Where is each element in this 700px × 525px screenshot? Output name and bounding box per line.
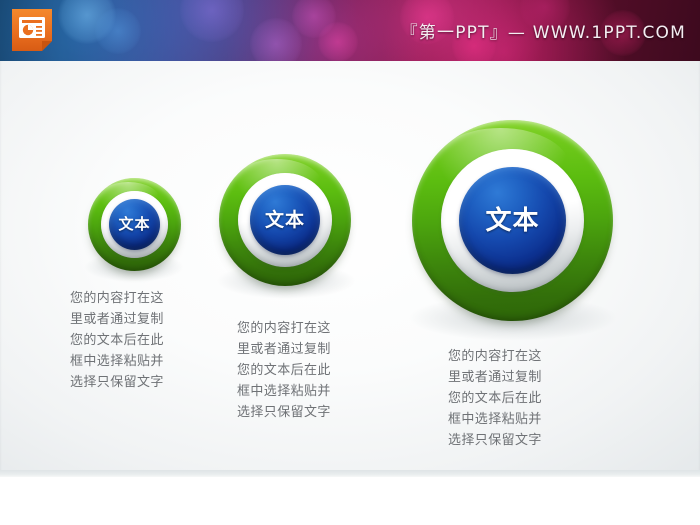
bokeh-circle — [250, 18, 302, 61]
node-label-medium: 文本 — [265, 211, 305, 230]
node-caption-large: 您的内容打在这 里或者通过复制 您的文本后在此 框中选择粘贴并 选择只保留文字 — [448, 346, 568, 451]
node-label-small: 文本 — [118, 217, 150, 232]
bokeh-circle — [95, 8, 141, 54]
slide-canvas: 『第一PPT』— WWW.1PPT.COM 文本 您的内容打在这 里或者通过复制… — [0, 0, 700, 525]
node-caption-small: 您的内容打在这 里或者通过复制 您的文本后在此 框中选择粘贴并 选择只保留文字 — [70, 288, 190, 393]
header-title: 『第一PPT』— WWW.1PPT.COM — [401, 18, 686, 43]
bokeh-circle — [292, 0, 336, 38]
bokeh-circle — [318, 22, 358, 61]
node-caption-medium: 您的内容打在这 里或者通过复制 您的文本后在此 框中选择粘贴并 选择只保留文字 — [237, 318, 357, 423]
header-banner: 『第一PPT』— WWW.1PPT.COM — [0, 0, 700, 61]
bokeh-circle — [180, 0, 244, 42]
node-small[interactable]: 文本 — [88, 178, 181, 271]
bokeh-circle — [58, 0, 116, 44]
powerpoint-document-icon[interactable] — [10, 7, 54, 53]
footer-bar: 第一PPT HTTP://WWW.1PPT.COM — [0, 477, 700, 525]
blue-core-small: 文本 — [109, 199, 160, 250]
slide-bottom-edge — [0, 470, 700, 477]
blue-core-large: 文本 — [459, 167, 566, 274]
node-medium[interactable]: 文本 — [219, 154, 351, 286]
node-large[interactable]: 文本 — [412, 120, 613, 321]
blue-core-medium: 文本 — [250, 185, 320, 255]
node-label-large: 文本 — [485, 208, 539, 234]
